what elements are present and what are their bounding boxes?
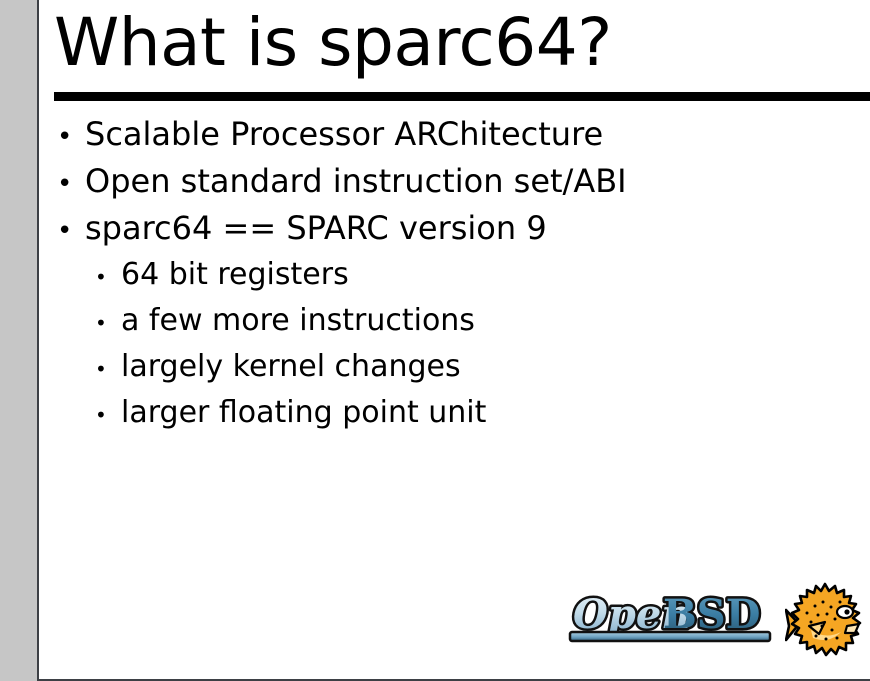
bullet-item: • largely kernel changes	[39, 345, 870, 391]
slide-title: What is sparc64?	[54, 6, 612, 80]
bullet-label: 64 bit registers	[121, 253, 349, 297]
bullet-label: a few more instructions	[121, 299, 475, 343]
puffy-pufferfish-icon	[785, 578, 863, 670]
bullet-item: • a few more instructions	[39, 299, 870, 345]
bullet-marker-icon: •	[95, 347, 121, 391]
openbsd-wordmark: Open BSD Open BSD	[567, 588, 779, 648]
bullet-marker-icon: •	[57, 209, 85, 253]
bullet-item: • Scalable Processor ARChitecture	[39, 112, 870, 159]
openbsd-logo: Open BSD Open BSD	[567, 578, 863, 670]
bullet-marker-icon: •	[57, 115, 85, 159]
bullet-item: • larger floating point unit	[39, 391, 870, 437]
bullet-label: sparc64 == SPARC version 9	[85, 206, 547, 250]
left-gutter-panel	[0, 0, 37, 681]
bullet-marker-icon: •	[95, 301, 121, 345]
bullet-label: Open standard instruction set/ABI	[85, 159, 627, 203]
bullet-item: • Open standard instruction set/ABI	[39, 159, 870, 206]
bullet-marker-icon: •	[95, 393, 121, 437]
bullet-label: Scalable Processor ARChitecture	[85, 112, 603, 156]
bullet-item: • 64 bit registers	[39, 253, 870, 299]
bullet-marker-icon: •	[95, 255, 121, 299]
bullet-label: larger floating point unit	[121, 391, 486, 435]
slide-canvas: What is sparc64? • Scalable Processor AR…	[39, 0, 870, 681]
title-underline-rule	[54, 92, 870, 101]
bullet-list: • Scalable Processor ARChitecture • Open…	[39, 112, 870, 437]
bullet-marker-icon: •	[57, 162, 85, 206]
bullet-label: largely kernel changes	[121, 345, 461, 389]
bullet-item: • sparc64 == SPARC version 9	[39, 206, 870, 253]
slide-window: What is sparc64? • Scalable Processor AR…	[0, 0, 870, 681]
